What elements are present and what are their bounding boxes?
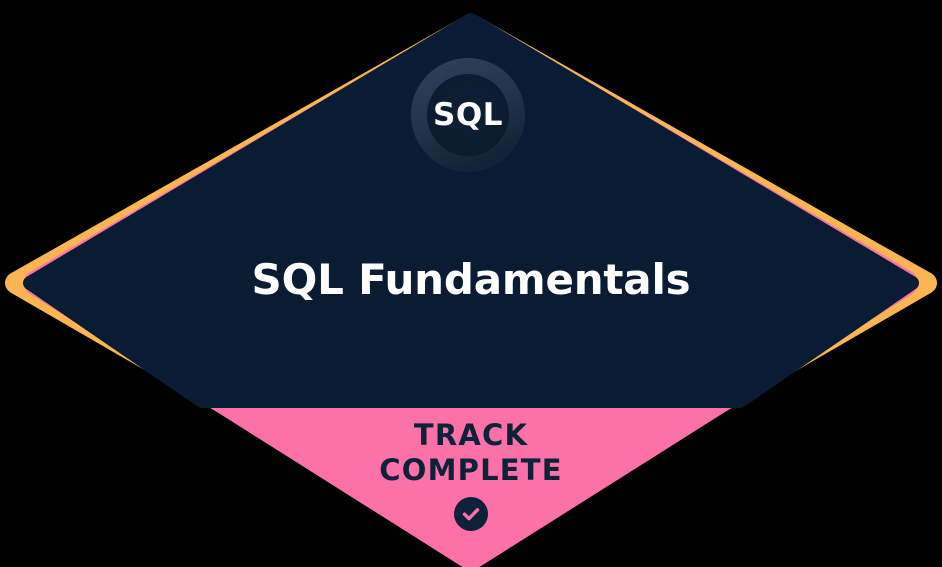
badge-graphic [0,0,942,567]
skill-chip-ring [411,58,525,172]
badge-stage: SQL SQL Fundamentals TRACK COMPLETE [0,0,942,567]
